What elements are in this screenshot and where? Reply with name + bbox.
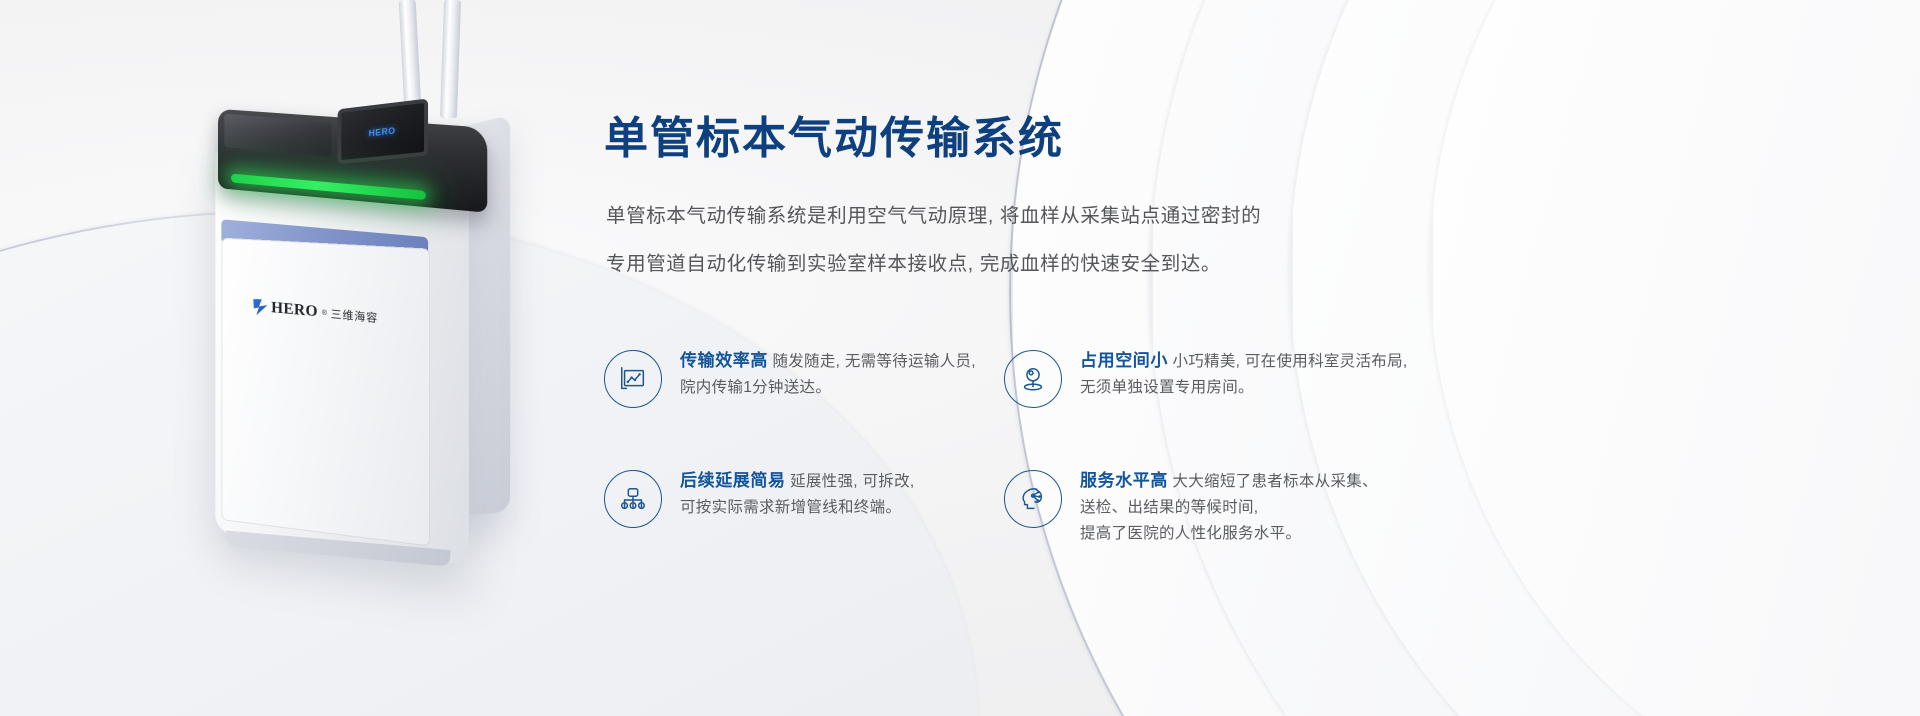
device-screen-logo: HERO [369,125,396,138]
device-front-panel [221,238,430,547]
chart-trend-icon [604,350,662,408]
space-pin-icon [1004,350,1062,408]
pneumatic-tube-right [440,0,461,118]
page-description: 单管标本气动传输系统是利用空气气动原理, 将血样从采集站点通过密封的专用管道自动… [606,192,1266,288]
hero-banner: HERO HERO ® 三维海容 单管标本气动传输系统 单管标本气动传输系统是利… [0,0,1920,716]
feature-title: 服务水平高 [1080,471,1168,490]
feature-text: 服务水平高 大大缩短了患者标本从采集、 送检、出结果的等候时间, 提高了医院的人… [1080,468,1378,547]
brand-chinese-name: 三维海容 [331,306,378,326]
feature-text: 占用空间小 小巧精美, 可在使用科室灵活布局, 无须单独设置专用房间。 [1080,348,1407,401]
feature-title: 传输效率高 [680,351,768,370]
smart-head-icon [1004,470,1062,528]
feature-item-transfer-efficiency[interactable]: 传输效率高 随发随走, 无需等待运输人员, 院内传输1分钟送达。 [604,348,1004,408]
registered-mark-icon: ® [322,309,327,316]
feature-item-easy-expansion[interactable]: 后续延展简易 延展性强, 可拆改, 可按实际需求新增管线和终端。 [604,468,1004,547]
content-column: 单管标本气动传输系统 单管标本气动传输系统是利用空气气动原理, 将血样从采集站点… [604,0,1604,716]
feature-item-service-level[interactable]: 服务水平高 大大缩短了患者标本从采集、 送检、出结果的等候时间, 提高了医院的人… [1004,468,1424,547]
feature-row-2: 后续延展简易 延展性强, 可拆改, 可按实际需求新增管线和终端。 [604,468,1604,547]
feature-text: 后续延展简易 延展性强, 可拆改, 可按实际需求新增管线和终端。 [680,468,914,521]
feature-title: 占用空间小 [1080,351,1168,370]
feature-row-1: 传输效率高 随发随走, 无需等待运输人员, 院内传输1分钟送达。 [604,348,1604,408]
brand-latin-name: HERO [271,299,318,321]
hero-swoosh-icon [253,298,267,316]
page-title: 单管标本气动传输系统 [604,117,1064,161]
feature-title: 后续延展简易 [680,471,786,490]
product-device-image: HERO HERO ® 三维海容 [150,0,580,716]
network-tree-icon [604,470,662,528]
feature-item-small-footprint[interactable]: 占用空间小 小巧精美, 可在使用科室灵活布局, 无须单独设置专用房间。 [1004,348,1424,408]
feature-text: 传输效率高 随发随走, 无需等待运输人员, 院内传输1分钟送达。 [680,348,976,401]
feature-list: 传输效率高 随发随走, 无需等待运输人员, 院内传输1分钟送达。 [604,348,1604,547]
device-touchscreen[interactable]: HERO [338,98,428,164]
